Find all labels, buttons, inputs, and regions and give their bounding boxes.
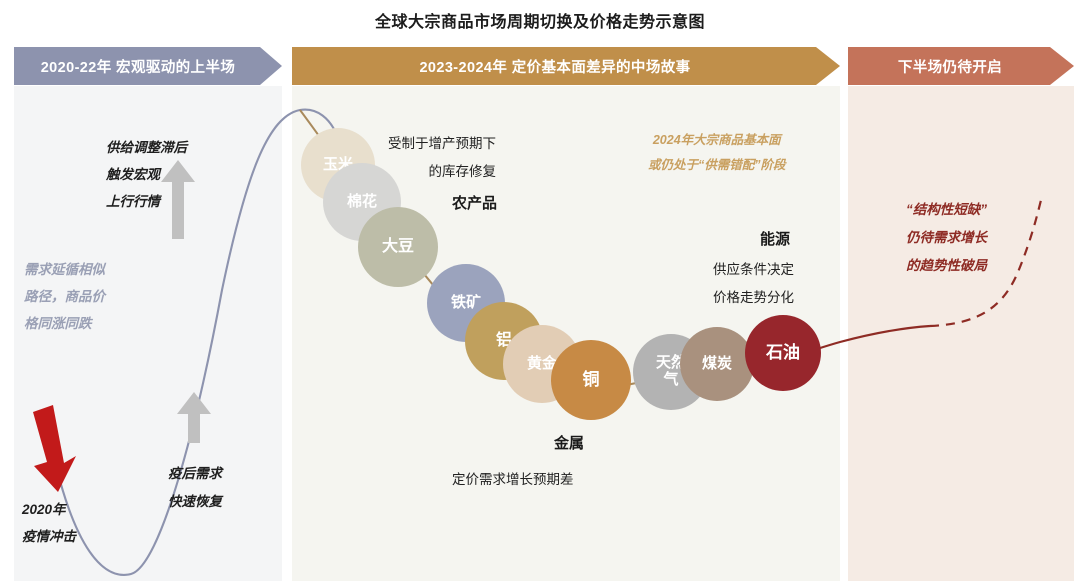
- annotation-energy-note: 供应条件决定 价格走势分化: [713, 256, 794, 312]
- bubble-coal[interactable]: 煤炭: [680, 327, 754, 401]
- bubble-label: 铜: [583, 370, 600, 389]
- bubble-label: 棉花: [347, 194, 377, 211]
- page-title: 全球大宗商品市场周期切换及价格走势示意图: [0, 8, 1080, 32]
- banner-phase-two: 2023-2024年 定价基本面差异的中场故事: [292, 47, 840, 85]
- annotation-metals-note: 定价需求增长预期差: [452, 468, 574, 488]
- annotation-supply-lag: 供给调整滞后 触发宏观 上行行情: [106, 134, 187, 215]
- annotation-structural-shortage: “结构性短缺” 仍待需求增长 的趋势性破局: [906, 196, 987, 280]
- label-agriculture: 农产品: [452, 192, 497, 213]
- bubble-copper[interactable]: 铜: [551, 340, 631, 420]
- banner-phase-one: 2020-22年 宏观驱动的上半场: [14, 47, 282, 85]
- bubble-label: 煤炭: [702, 356, 732, 373]
- bubble-label: 铁矿: [451, 295, 481, 312]
- annotation-covid-shock: 2020年 疫情冲击: [22, 496, 76, 550]
- annotation-post-covid: 疫后需求 快速恢复: [168, 460, 222, 516]
- label-energy: 能源: [760, 228, 790, 249]
- annotation-agriculture-note: 受制于增产预期下 的库存修复: [388, 130, 496, 186]
- panel-phase-three: [848, 86, 1074, 581]
- label-metals: 金属: [554, 432, 584, 453]
- bubble-label: 石油: [766, 343, 800, 362]
- annotation-2024-fundamentals: 2024年大宗商品基本面 或仍处于“供需错配”阶段: [648, 128, 786, 178]
- bubble-crude-oil[interactable]: 石油: [745, 315, 821, 391]
- bubble-soybean[interactable]: 大豆: [358, 207, 438, 287]
- bubble-label: 大豆: [382, 238, 414, 256]
- diagram-canvas: 全球大宗商品市场周期切换及价格走势示意图 2020-22年 宏观驱动的上半场 2…: [0, 0, 1080, 581]
- annotation-demand-path: 需求延循相似 路径，商品价 格同涨同跌: [24, 256, 105, 337]
- banner-phase-three: 下半场仍待开启: [848, 47, 1074, 85]
